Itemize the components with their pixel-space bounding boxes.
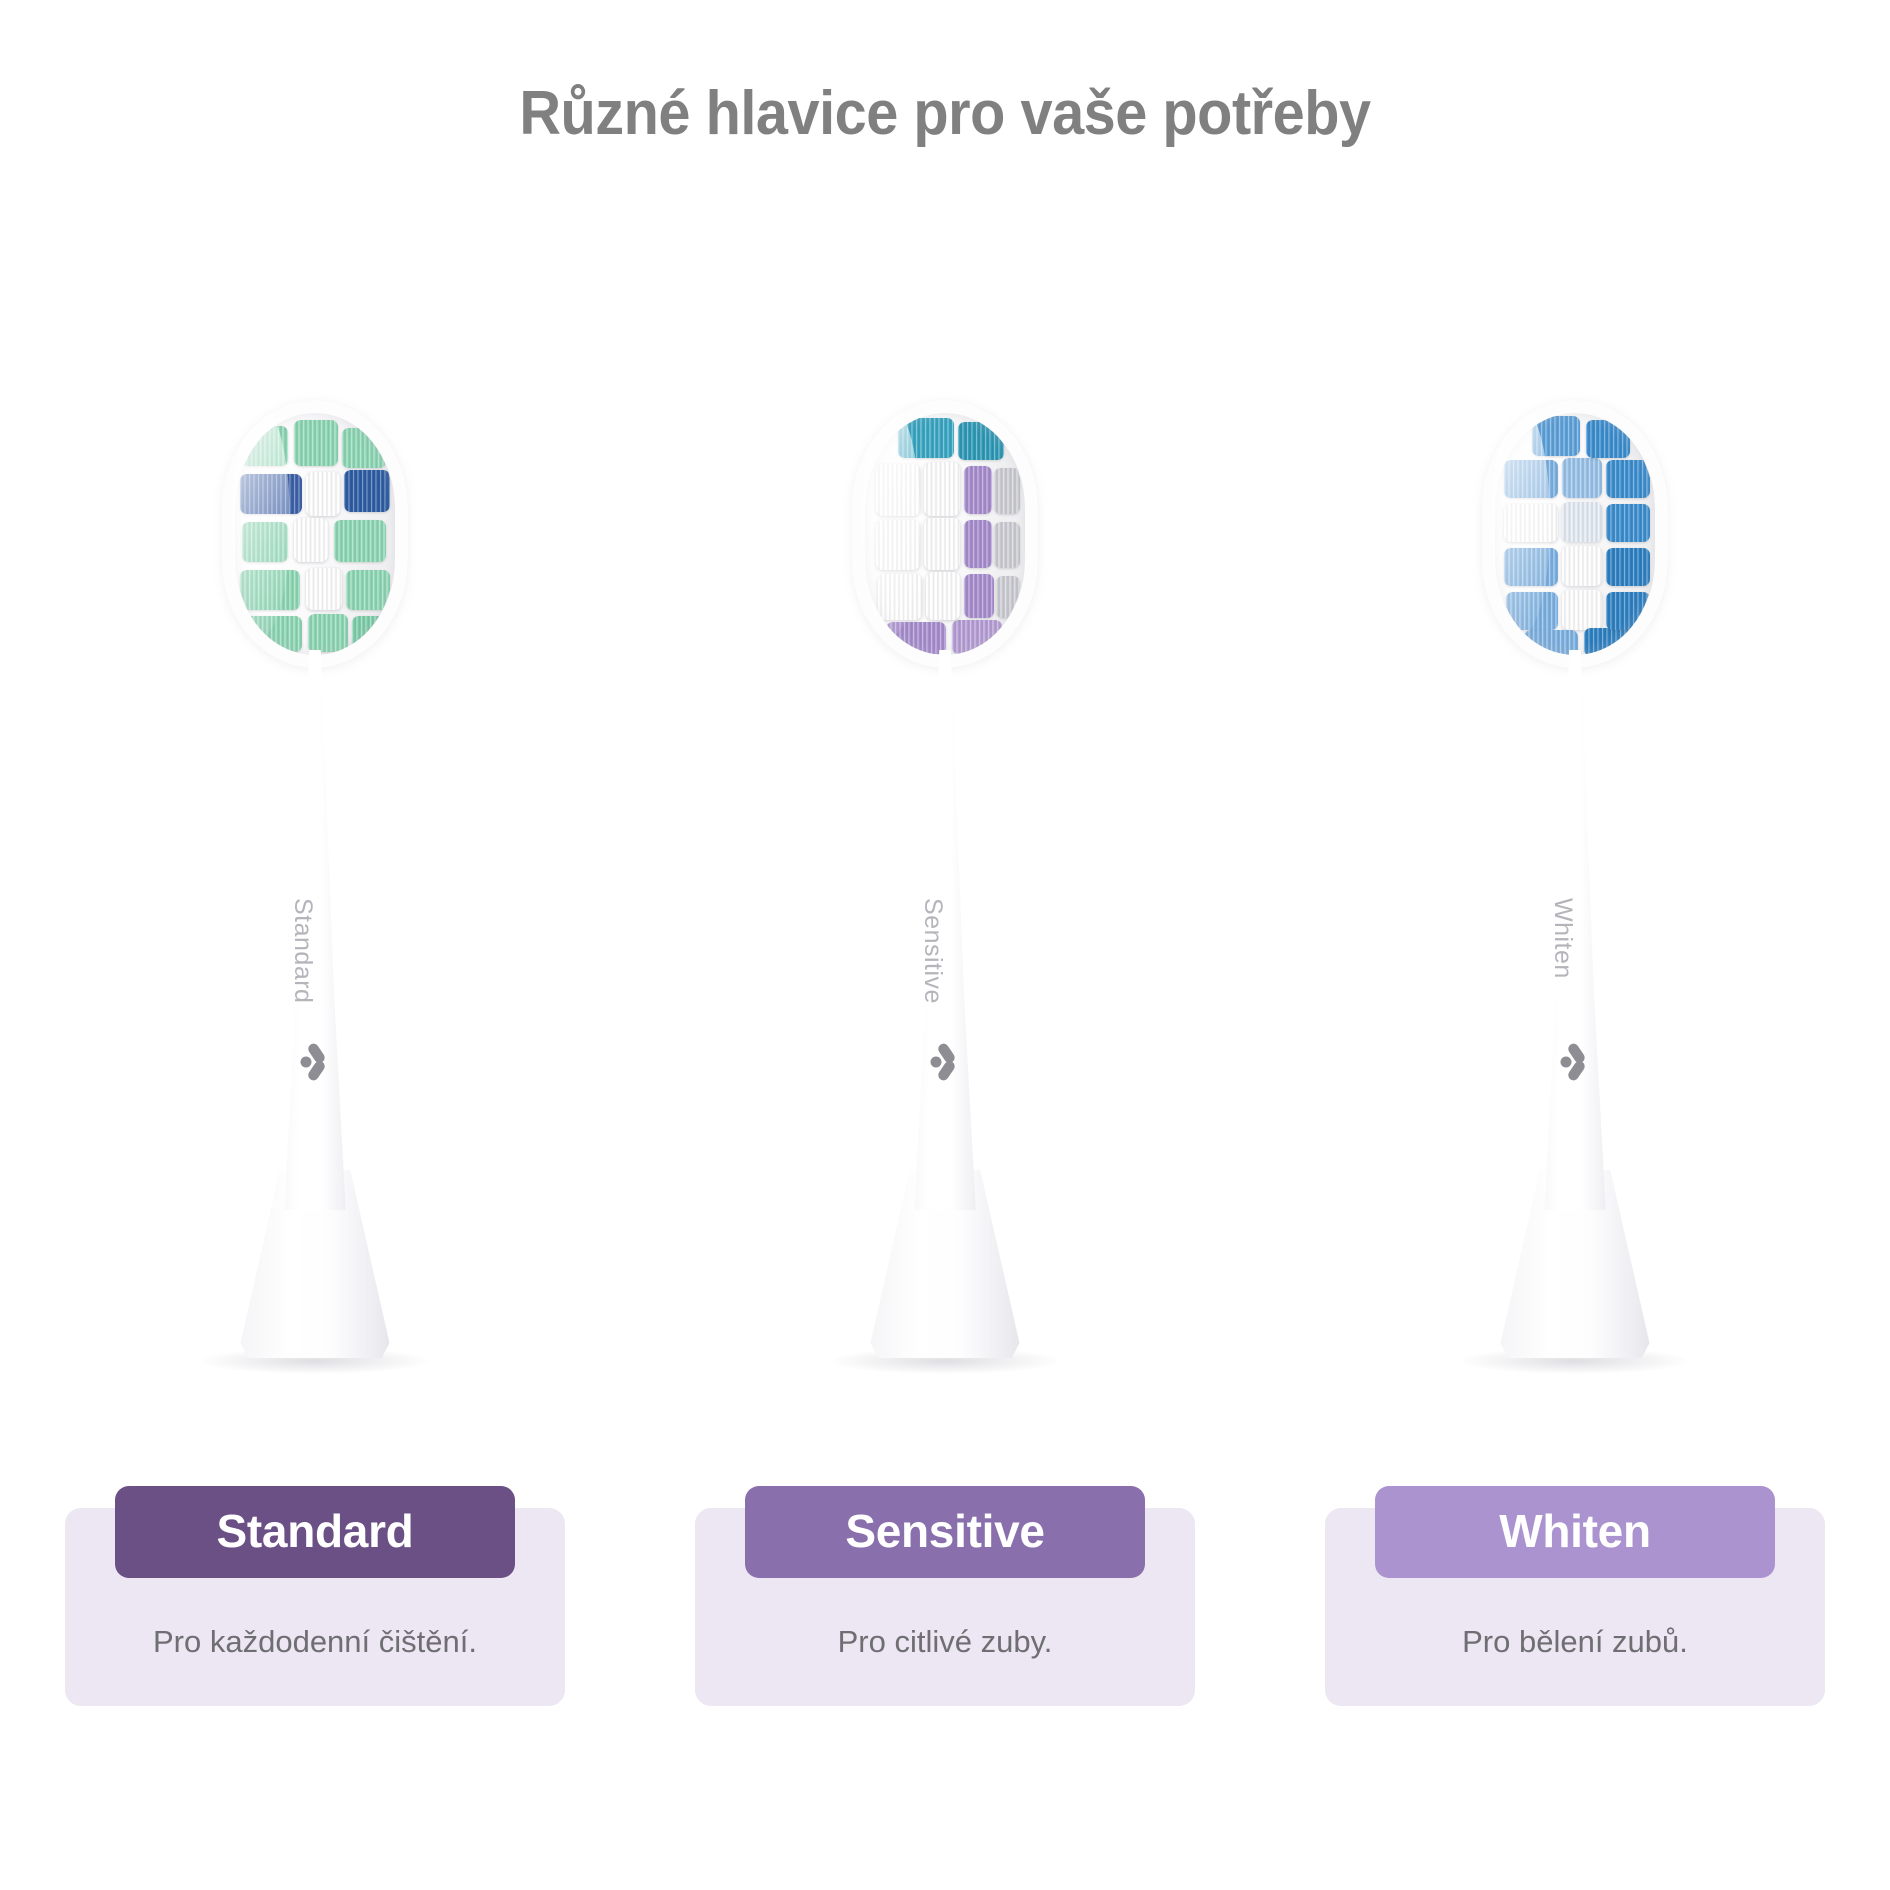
card-col-whiten: Whiten Pro bělení zubů. [1260, 1478, 1890, 1738]
bristle-tuft [342, 428, 386, 468]
bristle-tuft [334, 520, 386, 562]
bristle-tuft [1606, 592, 1650, 630]
card-description: Pro bělení zubů. [1325, 1624, 1825, 1660]
bristle-tuft [242, 522, 288, 562]
bristle-tuft [926, 572, 960, 620]
brush-head-standard[interactable]: Standard [190, 400, 440, 1400]
card-description: Pro každodenní čištění. [65, 1624, 565, 1660]
bristle-tuft [964, 574, 994, 618]
bristle-tuft [1532, 416, 1580, 456]
bristle-tuft [240, 474, 302, 514]
bristle-tuft [886, 622, 946, 654]
brand-logo-icon [297, 1040, 337, 1084]
bristle-tuft [294, 420, 338, 466]
badge-whiten[interactable]: Whiten [1375, 1486, 1775, 1578]
info-card-standard[interactable]: Standard Pro každodenní čištění. [65, 1508, 565, 1706]
engraved-label: Standard [288, 898, 317, 1003]
brush-head-oval [1482, 400, 1668, 668]
bristle-field [1496, 412, 1654, 656]
bristle-tuft [996, 576, 1020, 618]
bristle-tuft [1562, 590, 1602, 630]
bristle-tuft [306, 568, 342, 610]
bristle-tuft [964, 520, 992, 568]
bristle-tuft [924, 462, 960, 516]
card-description: Pro citlivé zuby. [695, 1624, 1195, 1660]
bristle-tuft [958, 422, 1004, 460]
bristle-tuft [1606, 504, 1650, 542]
bristle-tuft [1504, 504, 1558, 542]
infographic-page: Různé hlavice pro vaše potřeby Standard [0, 0, 1890, 1890]
product-row: Standard Sensitive [0, 400, 1890, 1400]
bristle-tuft [876, 464, 920, 516]
bristle-tuft [1584, 628, 1634, 656]
brush-head-oval [222, 400, 408, 668]
bristle-tuft [924, 518, 960, 570]
info-card-whiten[interactable]: Whiten Pro bělení zubů. [1325, 1508, 1825, 1706]
bristle-tuft [964, 466, 992, 514]
bristle-tuft [308, 614, 348, 652]
bristle-tuft [1506, 592, 1558, 630]
bristle-tuft [876, 520, 920, 570]
badge-standard[interactable]: Standard [115, 1486, 515, 1578]
bristle-tuft [244, 616, 302, 652]
bristle-tuft [240, 570, 300, 610]
bristle-tuft [1504, 548, 1558, 586]
bristle-tuft [242, 426, 288, 466]
bristle-tuft [352, 616, 390, 652]
bristle-field [866, 412, 1024, 656]
bristle-tuft [878, 574, 922, 620]
bristle-tuft [994, 522, 1020, 568]
card-col-sensitive: Sensitive Pro citlivé zuby. [630, 1478, 1260, 1738]
bristle-tuft [1562, 458, 1602, 498]
bristle-tuft [952, 620, 1002, 654]
bristle-tuft [1606, 548, 1650, 586]
brand-logo-icon [927, 1040, 967, 1084]
product-whiten: Whiten [1260, 400, 1890, 1400]
info-card-sensitive[interactable]: Sensitive Pro citlivé zuby. [695, 1508, 1195, 1706]
brush-head-oval [852, 400, 1038, 668]
bristle-tuft [306, 472, 340, 516]
bristle-tuft [346, 570, 390, 610]
badge-sensitive[interactable]: Sensitive [745, 1486, 1145, 1578]
bristle-tuft [994, 468, 1020, 514]
bristle-tuft [1586, 420, 1630, 458]
bristle-field [236, 412, 394, 656]
brush-head-whiten[interactable]: Whiten [1450, 400, 1700, 1400]
bristle-tuft [1606, 460, 1650, 498]
product-standard: Standard [0, 400, 630, 1400]
page-title: Různé hlavice pro vaše potřeby [66, 78, 1824, 149]
bristle-tuft [1562, 546, 1602, 586]
bristle-tuft [1562, 502, 1602, 542]
engraved-label: Sensitive [918, 898, 947, 1004]
brush-head-sensitive[interactable]: Sensitive [820, 400, 1070, 1400]
bristle-tuft [294, 518, 328, 562]
card-col-standard: Standard Pro každodenní čištění. [0, 1478, 630, 1738]
bristle-tuft [344, 470, 390, 512]
bristle-tuft [898, 418, 954, 458]
bristle-tuft [1504, 460, 1558, 498]
engraved-label: Whiten [1548, 898, 1577, 979]
info-card-row: Standard Pro každodenní čištění. Sensiti… [0, 1478, 1890, 1738]
brand-logo-icon [1557, 1040, 1597, 1084]
product-sensitive: Sensitive [630, 400, 1260, 1400]
